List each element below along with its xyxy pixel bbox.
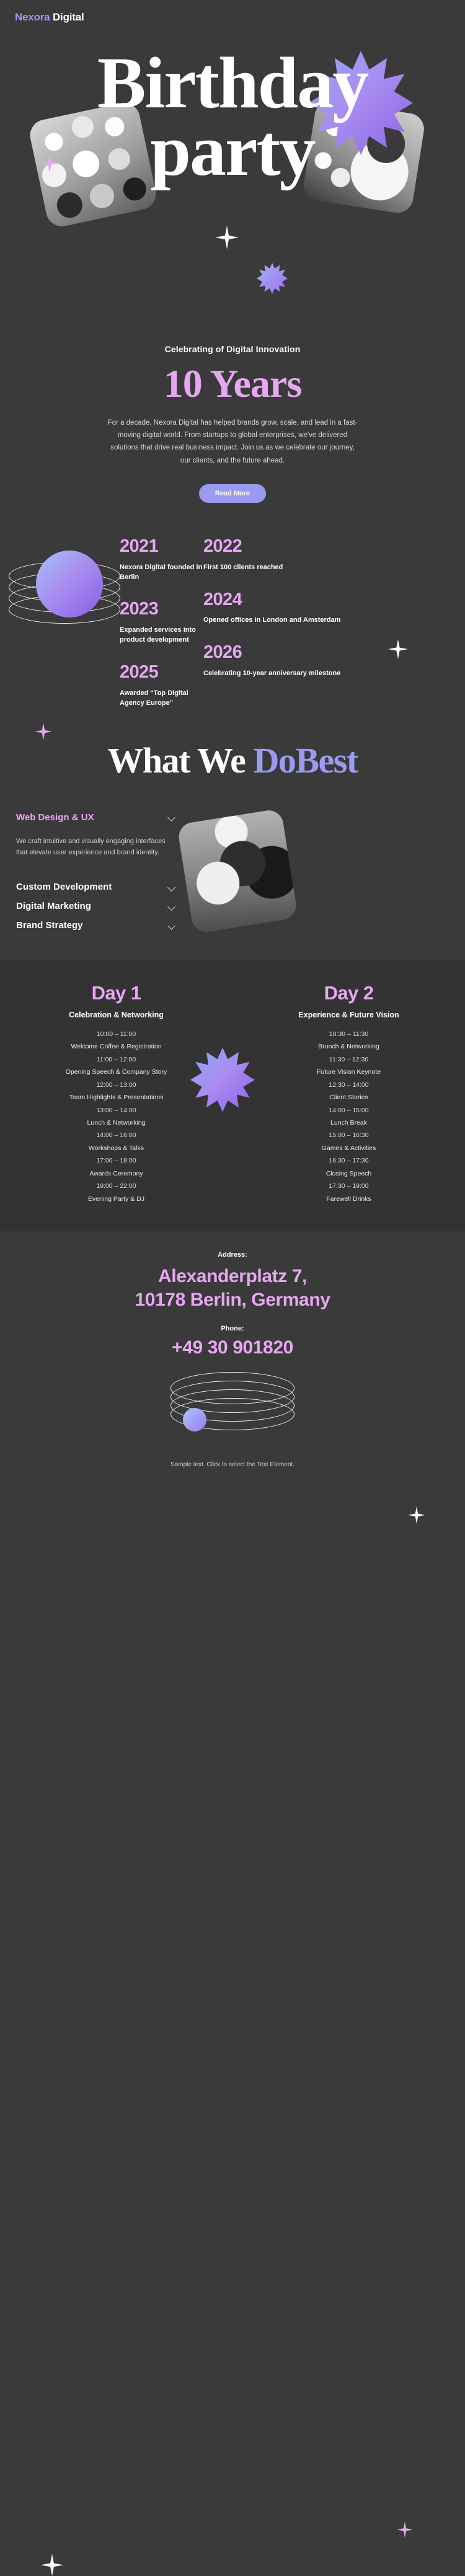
schedule-day-title: Day 2: [232, 982, 465, 1004]
starburst-icon: [257, 263, 288, 294]
schedule-time: 13:00 – 14:00: [0, 1104, 232, 1117]
schedule-time: 17:30 – 19:00: [232, 1180, 465, 1192]
timeline-column-left: 2021 Nexora Digital founded in Berlin 20…: [120, 537, 203, 726]
footer-rings-decoration: [0, 1372, 465, 1440]
intro-body: For a decade, Nexora Digital has helped …: [105, 417, 360, 467]
schedule-label: Workshops & Talks: [0, 1142, 232, 1154]
accordion-header[interactable]: Web Design & UX: [16, 808, 176, 827]
intro-section: Celebrating of Digital Innovation 10 Yea…: [0, 306, 465, 503]
schedule-day-subtitle: Celebration & Networking: [0, 1011, 232, 1019]
services-title-plain: What We: [107, 740, 253, 781]
schedule-time: 14:00 – 15:00: [232, 1104, 465, 1117]
schedule-label: Lunch Break: [232, 1117, 465, 1129]
services-title: What We DoBest: [0, 743, 465, 779]
timeline-column-right: 2022 First 100 clients reached 2024 Open…: [203, 537, 442, 726]
schedule-time: 16:30 – 17:30: [232, 1154, 465, 1167]
timeline-desc: Celebrating 10-year anniversary mileston…: [203, 669, 442, 679]
timeline-item: 2025 Awarded “Top Digital Agency Europe”: [120, 663, 203, 709]
accordion-header[interactable]: Custom Development: [16, 877, 176, 896]
schedule-label: Closing Speech: [232, 1167, 465, 1180]
chevron-down-icon[interactable]: [168, 815, 176, 820]
accordion-label: Digital Marketing: [16, 901, 91, 911]
timeline-year: 2023: [120, 600, 203, 619]
sparkle-icon: [41, 2554, 63, 2576]
accordion-item-web-design[interactable]: Web Design & UX We craft intuitive and v…: [16, 808, 176, 877]
timeline-item: 2021 Nexora Digital founded in Berlin: [120, 537, 203, 583]
services-title-accent: DoBest: [253, 740, 357, 781]
sparkle-icon: [397, 2521, 413, 2538]
schedule-label: Future Vision Keynote: [232, 1066, 465, 1078]
hero-section: Birthday party: [0, 24, 465, 306]
brand-logo[interactable]: Nexora Digital: [15, 11, 465, 24]
services-section: What We DoBest Web Design & UX We craft …: [0, 743, 465, 947]
timeline-year: 2022: [203, 537, 442, 557]
timeline-year: 2024: [203, 590, 442, 610]
timeline-desc: Nexora Digital founded in Berlin: [120, 563, 203, 583]
timeline-item: 2022 First 100 clients reached: [203, 537, 442, 573]
schedule-label: Games & Activities: [232, 1142, 465, 1154]
brand-logo-second: Digital: [53, 11, 84, 23]
phone-value[interactable]: +49 30 901820: [0, 1337, 465, 1358]
schedule-label: Evening Party & DJ: [0, 1193, 232, 1205]
schedule-section: Day 1 Celebration & Networking 10:00 – 1…: [0, 960, 465, 1232]
schedule-label: Farewell Drinks: [232, 1193, 465, 1205]
timeline-item: 2026 Celebrating 10-year anniversary mil…: [203, 643, 442, 679]
schedule-label: Welcome Coffee & Registration: [0, 1040, 232, 1053]
timeline-desc: Awarded “Top Digital Agency Europe”: [120, 689, 203, 709]
schedule-day-1: Day 1 Celebration & Networking 10:00 – 1…: [0, 982, 232, 1206]
accordion-item-brand-strategy[interactable]: Brand Strategy: [16, 916, 176, 935]
chevron-down-icon[interactable]: [168, 885, 176, 890]
schedule-label: Team Highlights & Presentations: [0, 1091, 232, 1104]
schedule-time: 14:00 – 16:00: [0, 1129, 232, 1141]
accordion-label: Web Design & UX: [16, 812, 94, 823]
accordion-label: Custom Development: [16, 882, 112, 892]
accordion-item-custom-development[interactable]: Custom Development: [16, 877, 176, 896]
address-line-1: Alexanderplatz 7,: [0, 1265, 465, 1288]
accordion-header[interactable]: Digital Marketing: [16, 896, 176, 916]
timeline-year: 2025: [120, 663, 203, 683]
accordion-body: We craft intuitive and visually engaging…: [16, 827, 176, 877]
schedule-time: 10:00 – 11:00: [0, 1028, 232, 1040]
services-people-photo: [177, 808, 298, 933]
timeline-grid: 2021 Nexora Digital founded in Berlin 20…: [120, 537, 442, 726]
services-accordion: Web Design & UX We craft intuitive and v…: [16, 808, 176, 935]
schedule-time: 11:30 – 12:30: [232, 1053, 465, 1066]
timeline-year: 2026: [203, 643, 442, 663]
gradient-sphere-decoration: [183, 1408, 206, 1432]
schedule-list: 10:30 – 11:30 Brunch & Networking 11:30 …: [232, 1028, 465, 1206]
gradient-sphere-decoration: [36, 551, 103, 617]
timeline-item: 2024 Opened offices in London and Amster…: [203, 590, 442, 626]
schedule-time: 12:30 – 14:00: [232, 1079, 465, 1091]
address-label: Address:: [0, 1251, 465, 1259]
sparkle-icon: [215, 226, 239, 249]
schedule-day-title: Day 1: [0, 982, 232, 1004]
timeline-desc: Opened offices in London and Amsterdam: [203, 616, 442, 626]
sparkle-icon: [408, 1507, 425, 1524]
schedule-label: Awards Ceremony: [0, 1167, 232, 1180]
schedule-day-2: Day 2 Experience & Future Vision 10:30 –…: [232, 982, 465, 1206]
read-more-button[interactable]: Read More: [199, 484, 266, 503]
hero-title: Birthday party: [0, 50, 465, 184]
accordion-item-digital-marketing[interactable]: Digital Marketing: [16, 896, 176, 916]
site-header: Nexora Digital: [0, 0, 465, 24]
timeline-item: 2023 Expanded services into product deve…: [120, 600, 203, 645]
accordion-label: Brand Strategy: [16, 920, 83, 931]
timeline-year: 2021: [120, 537, 203, 557]
schedule-time: 19:00 – 22:00: [0, 1180, 232, 1192]
footer-section: Address: Alexanderplatz 7, 10178 Berlin,…: [0, 1231, 465, 1468]
schedule-list: 10:00 – 11:00 Welcome Coffee & Registrat…: [0, 1028, 232, 1206]
hero-title-line2: party: [0, 117, 465, 185]
schedule-time: 10:30 – 11:30: [232, 1028, 465, 1040]
brand-logo-first: Nexora: [15, 11, 50, 23]
address-line-2: 10178 Berlin, Germany: [0, 1288, 465, 1312]
timeline-desc: First 100 clients reached: [203, 563, 442, 573]
footer-sample-text[interactable]: Sample text. Click to select the Text El…: [0, 1461, 465, 1468]
schedule-day-subtitle: Experience & Future Vision: [232, 1011, 465, 1019]
phone-label: Phone:: [0, 1325, 465, 1332]
intro-headline: 10 Years: [0, 363, 465, 404]
address-value: Alexanderplatz 7, 10178 Berlin, Germany: [0, 1265, 465, 1311]
schedule-time: 15:00 – 16:30: [232, 1129, 465, 1141]
timeline-section: 2021 Nexora Digital founded in Berlin 20…: [0, 537, 465, 729]
schedule-time: 17:00 – 18:00: [0, 1154, 232, 1167]
chevron-down-icon[interactable]: [168, 923, 176, 928]
schedule-label: Lunch & Networking: [0, 1117, 232, 1129]
schedule-label: Brunch & Networking: [232, 1040, 465, 1053]
accordion-header[interactable]: Brand Strategy: [16, 916, 176, 935]
timeline-desc: Expanded services into product developme…: [120, 626, 203, 645]
intro-eyebrow: Celebrating of Digital Innovation: [0, 344, 465, 354]
schedule-label: Client Stories: [232, 1091, 465, 1104]
chevron-down-icon[interactable]: [168, 904, 176, 909]
